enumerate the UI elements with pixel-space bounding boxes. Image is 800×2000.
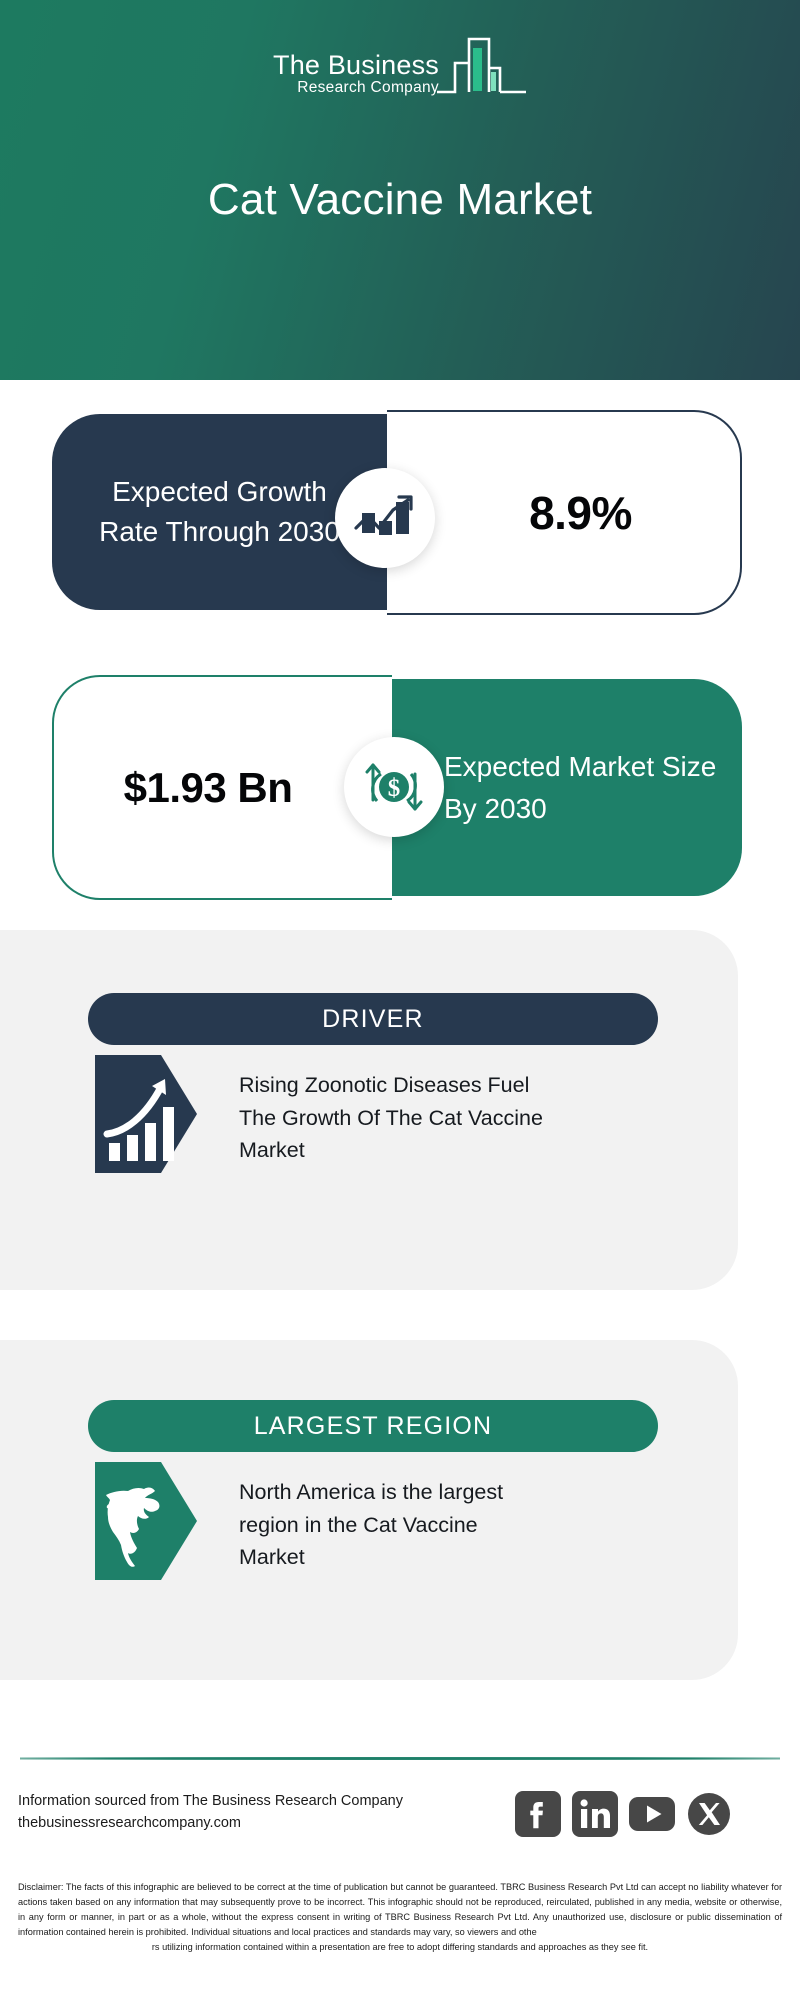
stat-card-market-value: $1.93 Bn xyxy=(124,764,323,812)
dollar-circulation-icon: $ xyxy=(360,753,428,821)
driver-pill: DRIVER xyxy=(88,993,658,1045)
bar-chart-logo-icon xyxy=(437,35,527,100)
brand-logo: The Business Research Company xyxy=(0,30,800,100)
largest-region-pill-label: LARGEST REGION xyxy=(254,1412,493,1441)
x-twitter-icon[interactable] xyxy=(686,1791,732,1837)
stat-card-growth-rate: Expected Growth Rate Through 2030 8.9% xyxy=(52,410,742,615)
rising-bar-chart-hex-icon xyxy=(95,1055,197,1173)
stat-card-growth-value-panel: 8.9% xyxy=(387,410,742,615)
footer-divider xyxy=(20,1757,780,1760)
footer-source-line1: Information sourced from The Business Re… xyxy=(18,1790,488,1812)
stat-card-market-label-panel: Expected Market Size By 2030 xyxy=(392,679,742,896)
footer-source: Information sourced from The Business Re… xyxy=(18,1790,488,1835)
page-title: Cat Vaccine Market xyxy=(0,175,800,225)
stat-card-market-value-panel: $1.93 Bn xyxy=(52,675,392,900)
stat-card-growth-icon-badge xyxy=(335,468,435,568)
stat-card-growth-value: 8.9% xyxy=(495,486,632,540)
brand-logo-line2: Research Company xyxy=(273,79,439,97)
driver-content-row: Rising Zoonotic Diseases Fuel The Growth… xyxy=(95,1055,545,1173)
stat-card-market-label: Expected Market Size By 2030 xyxy=(392,746,742,829)
youtube-icon[interactable] xyxy=(629,1791,675,1837)
facebook-icon[interactable] xyxy=(515,1791,561,1837)
brand-logo-line1: The Business xyxy=(273,51,439,79)
largest-region-text: North America is the largest region in t… xyxy=(197,1462,545,1574)
disclaimer-main: Disclaimer: The facts of this infographi… xyxy=(18,1882,782,1937)
growth-chart-icon xyxy=(352,488,418,548)
north-america-map-hex-icon xyxy=(95,1462,197,1580)
stat-card-growth-label: Expected Growth Rate Through 2030 xyxy=(97,472,342,552)
brand-logo-text: The Business Research Company xyxy=(273,51,439,100)
largest-region-pill: LARGEST REGION xyxy=(88,1400,658,1452)
header-banner: The Business Research Company Cat Vaccin… xyxy=(0,0,800,380)
driver-text: Rising Zoonotic Diseases Fuel The Growth… xyxy=(197,1055,545,1167)
footer-source-url[interactable]: thebusinessresearchcompany.com xyxy=(18,1812,488,1834)
stat-card-market-size: $1.93 Bn Expected Market Size By 2030 $ xyxy=(52,675,742,900)
driver-pill-label: DRIVER xyxy=(322,1005,424,1034)
svg-text:$: $ xyxy=(388,775,401,802)
stat-card-market-icon-badge: $ xyxy=(344,737,444,837)
largest-region-content-row: North America is the largest region in t… xyxy=(95,1462,545,1580)
linkedin-icon[interactable] xyxy=(572,1791,618,1837)
social-links xyxy=(515,1790,755,1838)
disclaimer-last-line: rs utilizing information contained withi… xyxy=(18,1940,782,1955)
disclaimer: Disclaimer: The facts of this infographi… xyxy=(18,1880,782,1955)
